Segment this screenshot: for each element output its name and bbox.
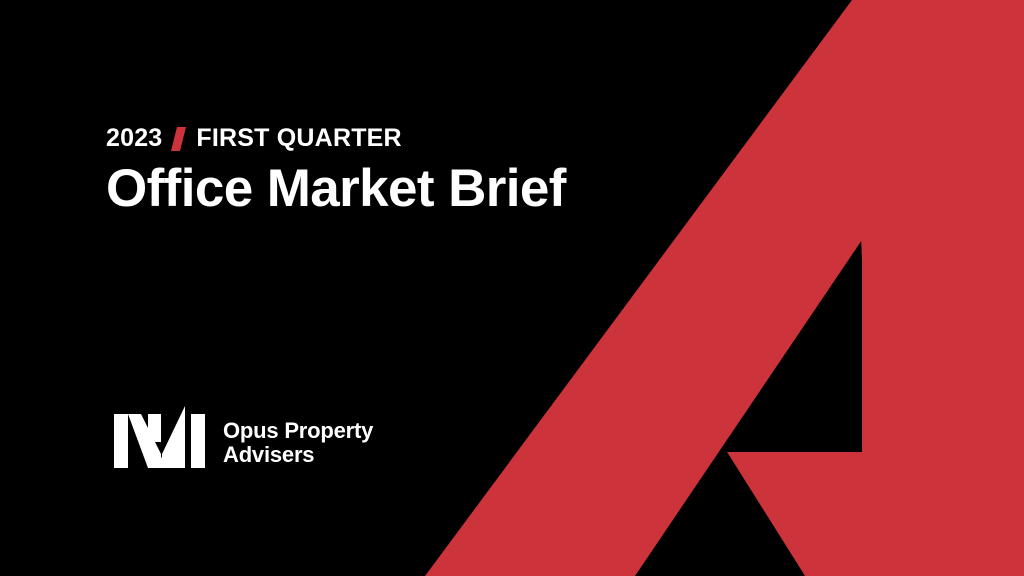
logo-wordmark-line-1: Opus Property	[223, 419, 373, 443]
logo-wordmark-line-2: Advisers	[223, 443, 373, 467]
nai-i-bar	[191, 414, 205, 468]
report-period: FIRST QUARTER	[196, 126, 401, 151]
page-title: Office Market Brief	[106, 161, 566, 216]
eyebrow-line: 2023 FIRST QUARTER	[106, 126, 566, 151]
nai-n-right-stem	[148, 414, 161, 442]
report-year: 2023	[106, 126, 162, 151]
large-red-a-graphic	[0, 0, 1024, 576]
nai-n-left-stem	[114, 414, 128, 468]
nai-logo-lockup: Opus Property Advisers	[112, 406, 373, 468]
slash-separator-icon	[171, 127, 186, 151]
title-block: 2023 FIRST QUARTER Office Market Brief	[106, 126, 566, 216]
logo-wordmark: Opus Property Advisers	[223, 419, 373, 467]
cover-page: 2023 FIRST QUARTER Office Market Brief O…	[0, 0, 1024, 576]
nai-logo-mark-icon	[112, 406, 216, 468]
